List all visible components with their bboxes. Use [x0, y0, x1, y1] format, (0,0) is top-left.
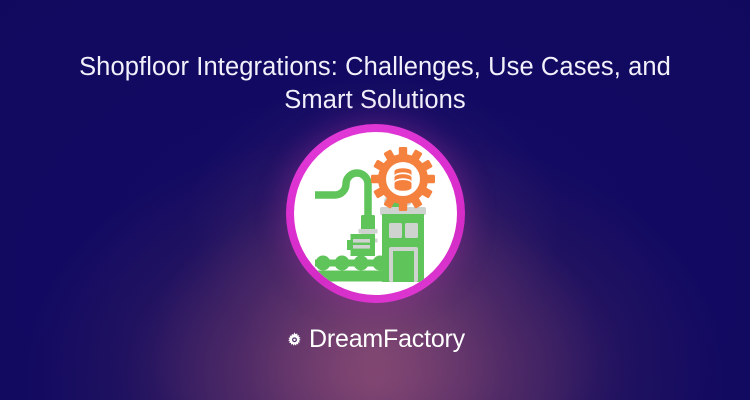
logo-text: DreamFactory — [309, 325, 465, 354]
conveyor-box-icon — [344, 234, 375, 256]
dreamfactory-logo[interactable]: DreamFactory — [0, 325, 750, 354]
gear-icon — [285, 331, 304, 350]
illustration-badge — [286, 124, 465, 303]
conveyor-belt-icon — [315, 255, 388, 281]
illustration-disc — [294, 132, 457, 295]
page-title: Shopfloor Integrations: Challenges, Use … — [0, 51, 750, 117]
blog-banner: Shopfloor Integrations: Challenges, Use … — [0, 0, 750, 400]
factory-illustration — [301, 139, 451, 289]
gear-database-icon — [371, 147, 435, 211]
